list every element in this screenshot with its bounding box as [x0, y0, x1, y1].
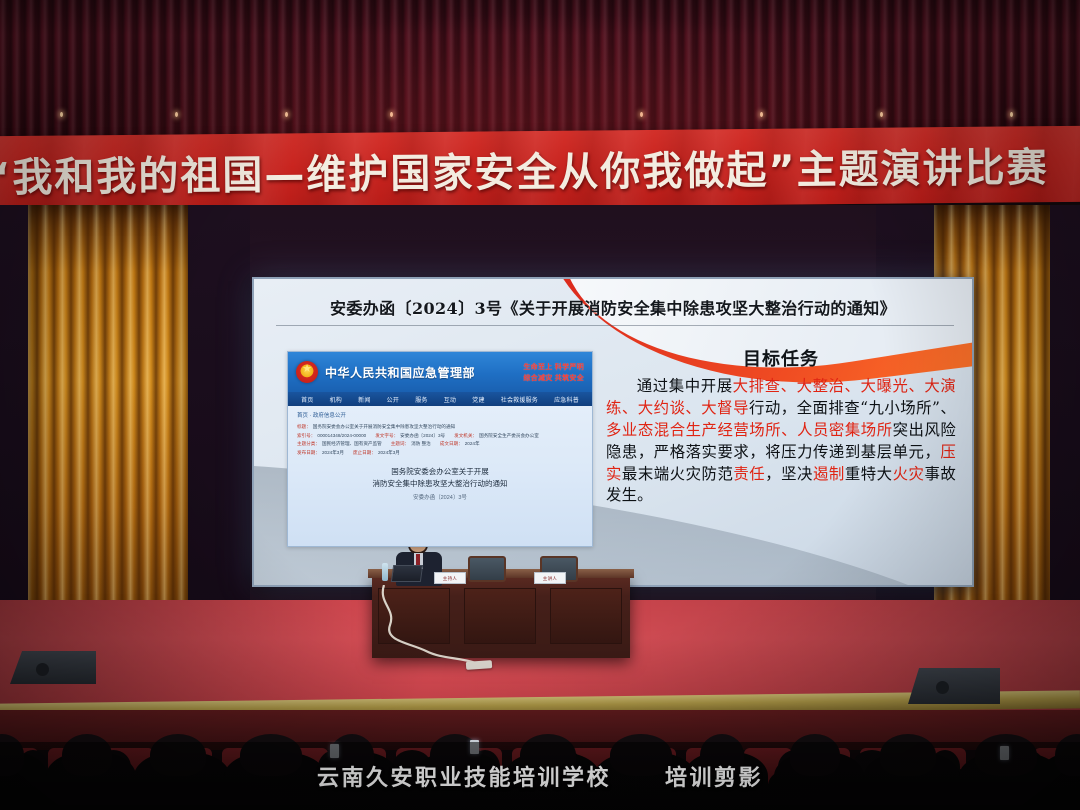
- metadata-value: 2024年3月: [322, 450, 344, 456]
- website-nav-bar: 首页机构新闻公开服务互动党建社会救援服务应急科普: [288, 392, 592, 406]
- metadata-cell: 发文机关：国务院安全生产委员会办公室: [454, 433, 539, 439]
- curtain-light: [760, 112, 763, 117]
- website-nav-item-7: 社会救援服务: [501, 395, 538, 404]
- website-nav-item-8: 应急科普: [554, 395, 579, 404]
- metadata-cell: 发布日期：2024年3月: [297, 450, 344, 456]
- metadata-key: 主题词：: [391, 441, 409, 447]
- metadata-value: 消防 整治: [411, 441, 431, 447]
- metadata-value: 2024年3月: [378, 450, 400, 456]
- website-breadcrumb: 首页 · 政府信息公开: [288, 406, 592, 422]
- curtain-light: [1010, 112, 1013, 117]
- website-title: 中华人民共和国应急管理部: [325, 364, 475, 381]
- metadata-value: 安委办函〔2024〕3号: [400, 433, 445, 439]
- slogan-line-2: 综合减灾 共筑安全: [523, 373, 584, 383]
- metadata-value: 国务院安委会办公室关于开展消防安全集中除患攻坚大整治行动的通知: [313, 424, 455, 430]
- metadata-value: 国民经济管理、国有资产监管: [322, 441, 382, 447]
- slide-text-segment-8: ，坚决: [765, 465, 813, 483]
- metadata-cell: 废止日期：2024年3月: [353, 450, 400, 456]
- metadata-key: 成文日期：: [440, 441, 463, 447]
- speaker-port-icon: [36, 663, 49, 676]
- curtain-light: [390, 112, 393, 117]
- metadata-row: 索引号：000014348/2024-00000发文字号：安委办函〔2024〕3…: [297, 433, 583, 439]
- table-panel: [550, 588, 622, 644]
- slide-text-column: 目标任务 通过集中开展大排查、大整治、大曝光、大演练、大约谈、大督导行动，全面排…: [606, 345, 956, 507]
- curtain-light: [285, 112, 288, 117]
- slide-text-segment-0: 通过集中开展: [637, 377, 733, 395]
- speaker-port-icon: [936, 681, 949, 694]
- metadata-row: 标题：国务院安委会办公室关于开展消防安全集中除患攻坚大整治行动的通知: [297, 424, 583, 430]
- stage-mask-far-left: [0, 205, 30, 635]
- caption-overlay: 云南久安职业技能培训学校 培训剪影: [0, 742, 1080, 810]
- website-nav-item-1: 机构: [330, 395, 342, 404]
- slide-paragraph: 通过集中开展大排查、大整治、大曝光、大演练、大约谈、大督导行动，全面排查“九小场…: [606, 376, 956, 507]
- metadata-key: 主题分类：: [297, 441, 320, 447]
- document-number: 安委办函〔2024〕3号: [298, 493, 582, 501]
- laptop: [391, 565, 423, 582]
- metadata-key: 标题：: [297, 424, 311, 430]
- nameplate-right: 主讲人: [534, 572, 566, 584]
- metadata-cell: 成文日期：2024年: [440, 441, 480, 447]
- website-nav-item-4: 服务: [415, 395, 427, 404]
- slide-text-segment-10: 重特大: [845, 465, 893, 483]
- slide-text-segment-3: 多业态混合生产经营场所、人员密集场所: [606, 421, 893, 439]
- stage-monitor-speaker-left: [10, 651, 96, 684]
- event-banner-text: “我和我的祖国—维护国家安全从你我做起”主题演讲比赛: [0, 135, 1080, 204]
- embedded-website-screenshot: 中华人民共和国应急管理部 生命至上 科学严明 综合减灾 共筑安全 首页机构新闻公…: [287, 351, 593, 547]
- website-document-metadata: 标题：国务院安委会办公室关于开展消防安全集中除患攻坚大整治行动的通知索引号：00…: [288, 422, 592, 460]
- metadata-key: 索引号：: [297, 433, 315, 439]
- curtain-light: [640, 112, 643, 117]
- national-emblem-icon: [296, 361, 318, 383]
- metadata-row: 主题分类：国民经济管理、国有资产监管主题词：消防 整治成文日期：2024年: [297, 441, 583, 447]
- caption-organization: 云南久安职业技能培训学校: [317, 760, 611, 792]
- document-title-line-2: 消防安全集中除患攻坚大整治行动的通知: [298, 478, 582, 490]
- curtain-light: [175, 112, 178, 117]
- website-nav-item-0: 首页: [301, 395, 313, 404]
- slide-text-segment-6: 最末端火灾防范: [622, 465, 733, 483]
- stage-mask-far-right: [1050, 205, 1080, 635]
- top-stage-curtain: [0, 0, 1080, 140]
- water-bottle: [382, 563, 388, 581]
- metadata-cell: 主题分类：国民经济管理、国有资产监管: [297, 441, 382, 447]
- metadata-value: 000014348/2024-00000: [317, 433, 366, 439]
- projection-screen: 安委办函〔2024〕3号《关于开展消防安全集中除患攻坚大整治行动的通知》 中华人…: [252, 277, 974, 587]
- caption-subtitle: 培训剪影: [665, 760, 763, 792]
- document-title-line-1: 国务院安委会办公室关于开展: [298, 466, 582, 478]
- website-nav-item-6: 党建: [472, 395, 484, 404]
- website-header: 中华人民共和国应急管理部 生命至上 科学严明 综合减灾 共筑安全: [288, 352, 592, 392]
- metadata-key: 发布日期：: [297, 450, 320, 456]
- stage-monitor-speaker-right: [908, 668, 1000, 704]
- metadata-cell: 索引号：000014348/2024-00000: [297, 433, 366, 439]
- slide-text-segment-11: 火灾: [893, 465, 925, 483]
- slide-text-segment-9: 遏制: [813, 465, 845, 483]
- metadata-cell: 主题词：消防 整治: [391, 441, 431, 447]
- website-slogan: 生命至上 科学严明 综合减灾 共筑安全: [523, 362, 584, 383]
- power-cable: [380, 585, 560, 685]
- nameplate-left: 主持人: [434, 572, 466, 584]
- curtain-light: [880, 112, 883, 117]
- slide-title-divider: [276, 325, 954, 326]
- side-curtain-left: [28, 205, 190, 625]
- metadata-cell: 标题：国务院安委会办公室关于开展消防安全集中除患攻坚大整治行动的通知: [297, 424, 455, 430]
- event-banner: “我和我的祖国—维护国家安全从你我做起”主题演讲比赛: [0, 126, 1080, 212]
- photo-scene: “我和我的祖国—维护国家安全从你我做起”主题演讲比赛 安委办函〔2024〕3号《…: [0, 0, 1080, 810]
- metadata-value: 国务院安全生产委员会办公室: [479, 433, 539, 439]
- slide-heading: 目标任务: [606, 345, 956, 371]
- website-nav-item-3: 公开: [387, 395, 399, 404]
- metadata-value: 2024年: [465, 441, 480, 447]
- curtain-accent-lights: [0, 112, 1080, 122]
- curtain-light: [60, 112, 63, 117]
- metadata-cell: 发文字号：安委办函〔2024〕3号: [375, 433, 445, 439]
- stage-mask-left: [188, 205, 250, 635]
- website-nav-item-5: 互动: [444, 395, 456, 404]
- slide-text-segment-2: 行动，全面排查“九小场所”、: [749, 399, 956, 417]
- metadata-key: 废止日期：: [353, 450, 376, 456]
- slide-title: 安委办函〔2024〕3号《关于开展消防安全集中除患攻坚大整治行动的通知》: [254, 295, 972, 319]
- slogan-line-1: 生命至上 科学严明: [523, 362, 584, 372]
- metadata-row: 发布日期：2024年3月废止日期：2024年3月: [297, 450, 583, 456]
- website-nav-item-2: 新闻: [358, 395, 370, 404]
- metadata-key: 发文字号：: [375, 433, 398, 439]
- slide-text-segment-7: 责任: [733, 465, 765, 483]
- website-document-title-block: 国务院安委会办公室关于开展 消防安全集中除患攻坚大整治行动的通知 安委办函〔20…: [288, 466, 592, 501]
- chair: [468, 556, 506, 582]
- metadata-key: 发文机关：: [454, 433, 477, 439]
